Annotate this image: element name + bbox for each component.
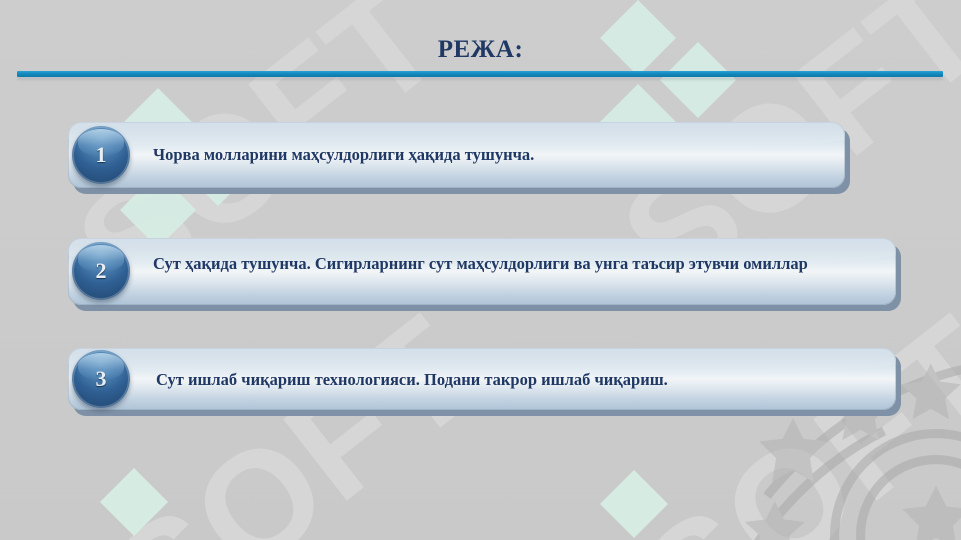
step-number-badge: 3	[72, 350, 130, 408]
step-number-badge: 2	[72, 242, 130, 300]
step-number-badge: 1	[72, 126, 130, 184]
list-item-text: Сут ишлаб чиқариш технологияси. Подани т…	[156, 369, 856, 391]
page-title: РЕЖА:	[0, 36, 961, 64]
presentation-slide: SOFT SOFT SOFT SOFT	[0, 0, 961, 540]
step-number-label: 1	[96, 142, 107, 168]
list-item-text: Чорва молларини маҳсулдорлиги ҳақида туш…	[153, 144, 793, 166]
step-number-label: 3	[96, 366, 107, 392]
list-item-text: Сут ҳақида тушунча. Сигирларнинг сут маҳ…	[153, 253, 886, 275]
step-number-label: 2	[96, 258, 107, 284]
title-divider-shadow	[17, 77, 943, 80]
title-divider	[17, 71, 943, 77]
